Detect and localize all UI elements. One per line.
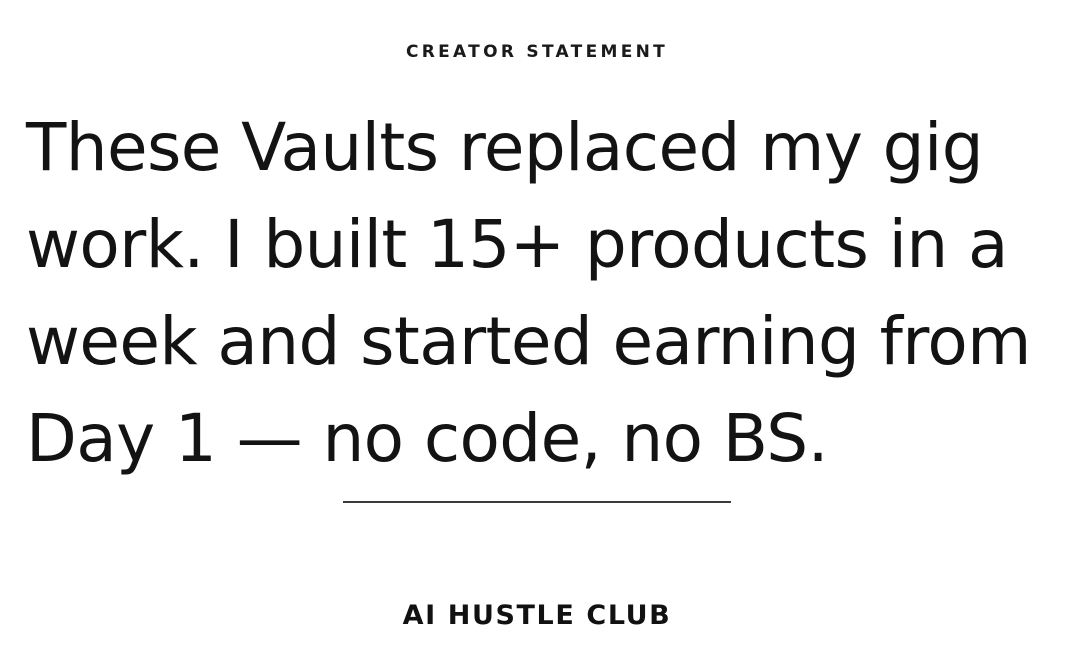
divider-container [0, 501, 1074, 503]
creator-statement-card: CREATOR STATEMENT These Vaults replaced … [0, 0, 1074, 647]
brand-name: AI HUSTLE CLUB [403, 602, 672, 629]
eyebrow-label: CREATOR STATEMENT [406, 44, 668, 61]
eyebrow-container: CREATOR STATEMENT [0, 0, 1074, 61]
section-divider [343, 501, 731, 503]
statement-text: These Vaults replaced my gig work. I bui… [26, 99, 1044, 487]
statement-container: These Vaults replaced my gig work. I bui… [0, 61, 1074, 487]
footer-container: AI HUSTLE CLUB [0, 602, 1074, 629]
